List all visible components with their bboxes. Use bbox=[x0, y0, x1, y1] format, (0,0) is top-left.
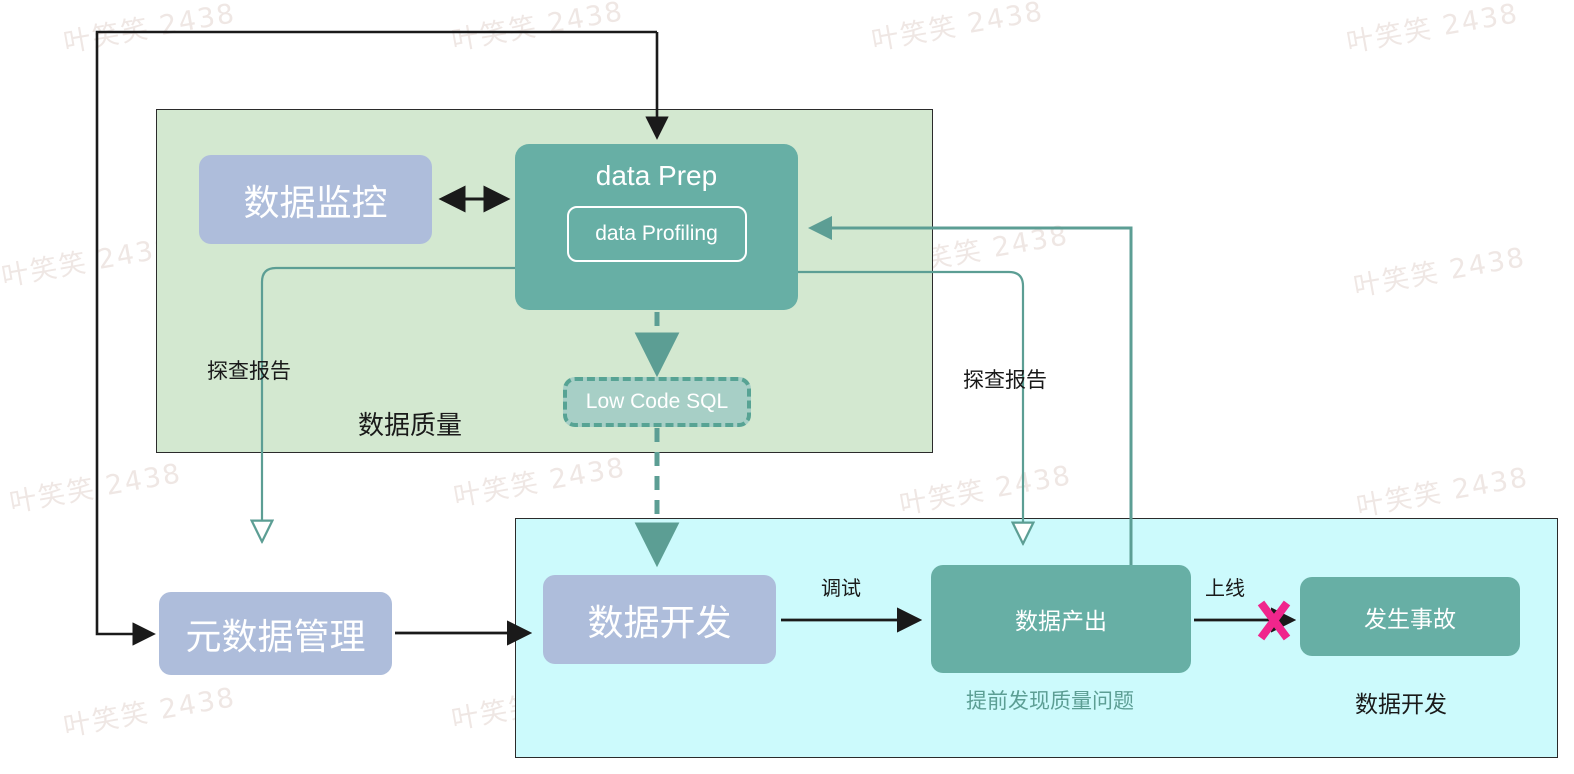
node-data-prep-label: data Prep bbox=[596, 160, 717, 192]
edge-label-debug: 调试 bbox=[821, 572, 861, 601]
watermark-text: 叶笑笑 2438 bbox=[868, 0, 1046, 58]
node-data-prep[interactable]: data Prep data Profiling bbox=[515, 144, 798, 310]
node-data-development[interactable]: 数据开发 bbox=[543, 575, 776, 664]
node-low-code-sql[interactable]: Low Code SQL bbox=[563, 377, 751, 427]
node-data-output-label: 数据产出 bbox=[1015, 602, 1107, 636]
node-data-monitoring-label: 数据监控 bbox=[243, 174, 387, 226]
edge-label-report-right: 探查报告 bbox=[963, 364, 1047, 394]
node-incident[interactable]: 发生事故 bbox=[1300, 577, 1520, 656]
watermark-text: 叶笑笑 2438 bbox=[450, 445, 628, 514]
watermark-text: 叶笑笑 2438 bbox=[0, 225, 176, 294]
watermark-text: 叶笑笑 2438 bbox=[60, 0, 238, 60]
caption-found-early: 提前发现质量问题 bbox=[966, 685, 1134, 715]
node-data-profiling[interactable]: data Profiling bbox=[567, 206, 747, 262]
edge-label-online: 上线 bbox=[1205, 572, 1245, 601]
watermark-text: 叶笑笑 2438 bbox=[1353, 455, 1531, 524]
watermark-text: 叶笑笑 2438 bbox=[896, 453, 1074, 522]
panel-data-quality-label: 数据质量 bbox=[358, 405, 462, 442]
diagram-canvas: 叶笑笑 2438叶笑笑 2438叶笑笑 2438叶笑笑 2438叶笑笑 2438… bbox=[0, 0, 1574, 774]
watermark-text: 叶笑笑 2438 bbox=[6, 451, 184, 520]
node-metadata-management-label: 元数据管理 bbox=[185, 608, 365, 660]
watermark-text: 叶笑笑 2438 bbox=[1343, 0, 1521, 60]
node-data-profiling-label: data Profiling bbox=[595, 222, 718, 246]
watermark-text: 叶笑笑 2438 bbox=[1350, 235, 1528, 304]
node-data-development-label: 数据开发 bbox=[587, 594, 731, 646]
node-incident-label: 发生事故 bbox=[1364, 600, 1456, 634]
watermark-text: 叶笑笑 2438 bbox=[60, 675, 238, 744]
node-data-monitoring[interactable]: 数据监控 bbox=[199, 155, 432, 244]
node-data-output[interactable]: 数据产出 bbox=[931, 565, 1191, 673]
caption-data-development: 数据开发 bbox=[1355, 685, 1447, 719]
edge-label-report-left: 探查报告 bbox=[207, 355, 291, 385]
node-low-code-sql-label: Low Code SQL bbox=[586, 390, 728, 414]
watermark-text: 叶笑笑 2438 bbox=[448, 0, 626, 58]
node-metadata-management[interactable]: 元数据管理 bbox=[159, 592, 392, 675]
